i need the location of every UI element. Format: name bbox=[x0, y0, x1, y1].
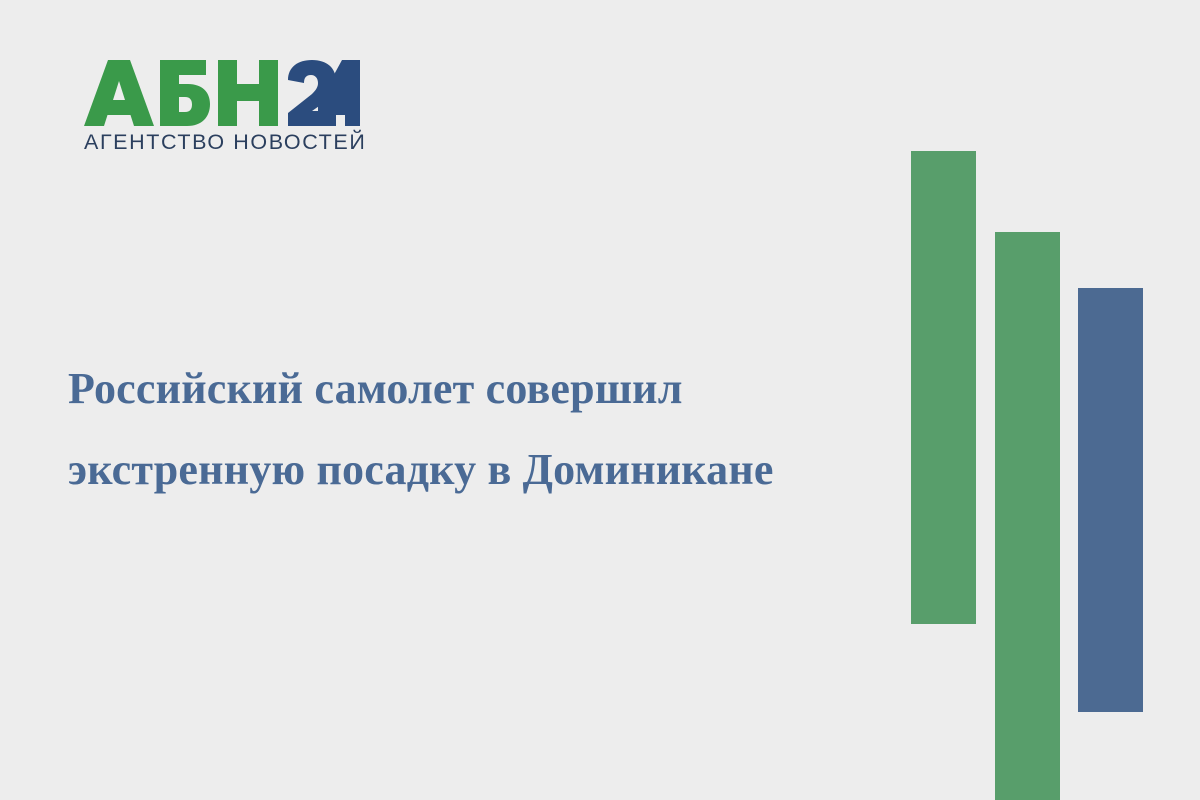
news-card: АГЕНТСТВО НОВОСТЕЙ Российский самолет со… bbox=[0, 0, 1200, 800]
decorative-bar-blue-short bbox=[1078, 288, 1143, 712]
headline: Российский самолет совершил экстренную п… bbox=[68, 348, 868, 510]
decorative-bar-green-tall bbox=[911, 151, 976, 624]
logo[interactable]: АГЕНТСТВО НОВОСТЕЙ bbox=[84, 60, 384, 154]
decorative-bar-green-medium bbox=[995, 232, 1060, 800]
logo-tagline: АГЕНТСТВО НОВОСТЕЙ bbox=[84, 132, 384, 154]
logo-mark-abn24-icon bbox=[84, 60, 360, 126]
